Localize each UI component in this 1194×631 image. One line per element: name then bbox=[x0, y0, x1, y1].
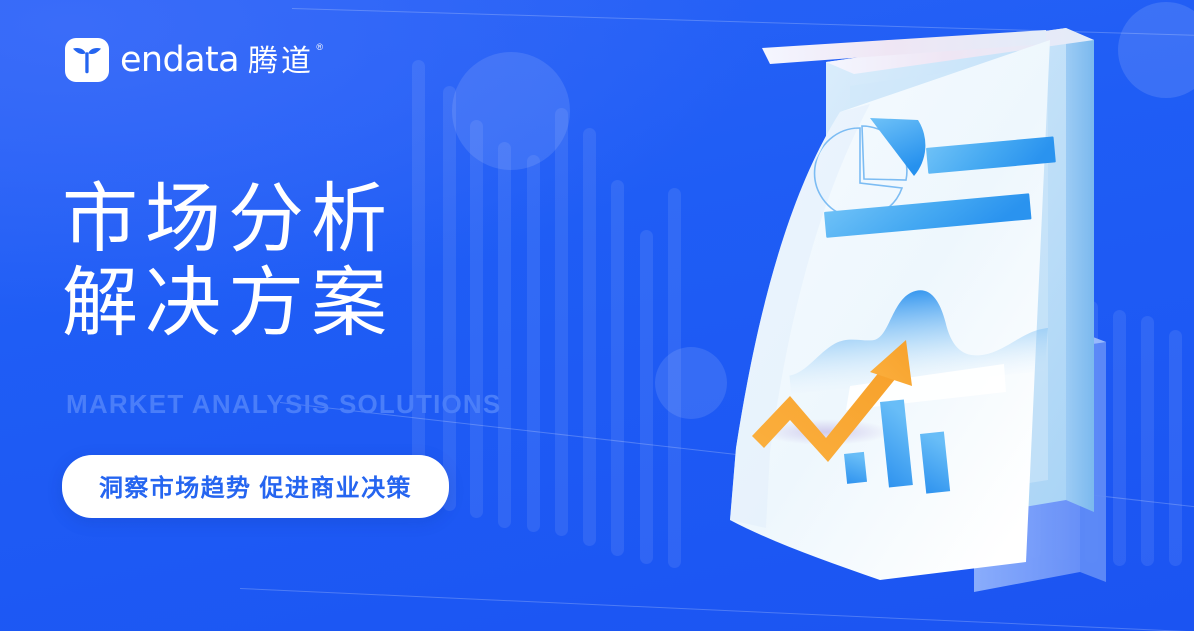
page-title: 市场分析 解决方案 bbox=[62, 178, 394, 347]
background-bar bbox=[611, 180, 624, 556]
tagline-text: 洞察市场趋势 促进商业决策 bbox=[99, 475, 412, 502]
background-bar bbox=[583, 128, 596, 546]
banner-content: endata 腾道 ® 市场分析 解决方案 MARKET ANALYSIS SO… bbox=[62, 0, 582, 631]
trademark-symbol: ® bbox=[316, 43, 326, 52]
brand-chinese-text: 腾道 ® bbox=[248, 47, 314, 77]
market-analysis-banner: endata 腾道 ® 市场分析 解决方案 MARKET ANALYSIS SO… bbox=[0, 0, 1194, 631]
market-report-illustration bbox=[674, 0, 1194, 631]
brand-chinese-label: 腾道 bbox=[248, 45, 314, 78]
brand-wordmark: endata 腾道 ® bbox=[120, 43, 314, 78]
tendata-leaf-t-mark-icon bbox=[65, 38, 109, 82]
headline-line-2: 解决方案 bbox=[62, 262, 394, 346]
report-page bbox=[730, 30, 1050, 580]
subtitle-english: MARKET ANALYSIS SOLUTIONS bbox=[66, 389, 501, 420]
background-bar bbox=[640, 230, 653, 564]
brand-latin-text: endata bbox=[120, 43, 239, 78]
headline-line-1: 市场分析 bbox=[62, 178, 394, 262]
brand-logo[interactable]: endata 腾道 ® bbox=[65, 38, 314, 82]
tagline-badge[interactable]: 洞察市场趋势 促进商业决策 bbox=[62, 455, 449, 518]
